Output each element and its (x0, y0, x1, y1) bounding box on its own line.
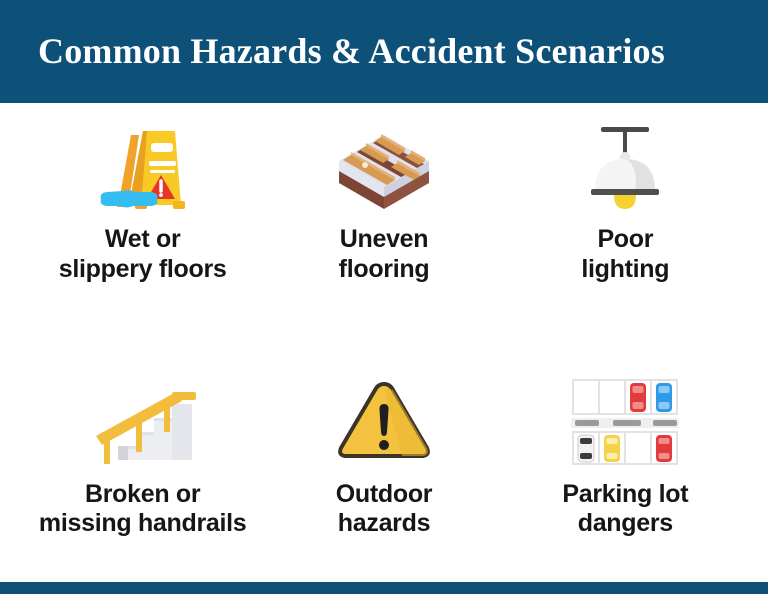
hazard-item-broken-missing-handrails: Broken or missing handrails (22, 356, 263, 594)
infographic-page: Common Hazards & Accident Scenarios (0, 0, 768, 594)
hazard-label: Poor lighting (581, 225, 669, 284)
hazard-item-parking-lot-dangers: Parking lot dangers (505, 356, 746, 594)
hazard-item-poor-lighting: Poor lighting (505, 117, 746, 356)
warning-triangle-icon (324, 372, 444, 468)
hazard-label: Wet or slippery floors (59, 225, 227, 284)
hazard-label: Parking lot dangers (562, 480, 688, 539)
parking-lot-icon (565, 372, 685, 468)
hazard-grid: Wet or slippery floors (0, 103, 768, 594)
page-title: Common Hazards & Accident Scenarios (38, 32, 665, 72)
hazard-label: Uneven flooring (339, 225, 430, 284)
header-bar: Common Hazards & Accident Scenarios (0, 0, 768, 103)
pendant-lamp-icon (565, 117, 685, 213)
hazard-item-uneven-flooring: Uneven flooring (263, 117, 504, 356)
hazard-item-outdoor-hazards: Outdoor hazards (263, 356, 504, 594)
hazard-label: Outdoor hazards (336, 480, 432, 539)
hazard-item-wet-slippery-floors: Wet or slippery floors (22, 117, 263, 356)
stairs-handrail-icon (83, 372, 203, 468)
wet-floor-sign-icon (83, 117, 203, 213)
uneven-flooring-icon (324, 117, 444, 213)
hazard-label: Broken or missing handrails (39, 480, 246, 539)
footer-bar (0, 582, 768, 594)
